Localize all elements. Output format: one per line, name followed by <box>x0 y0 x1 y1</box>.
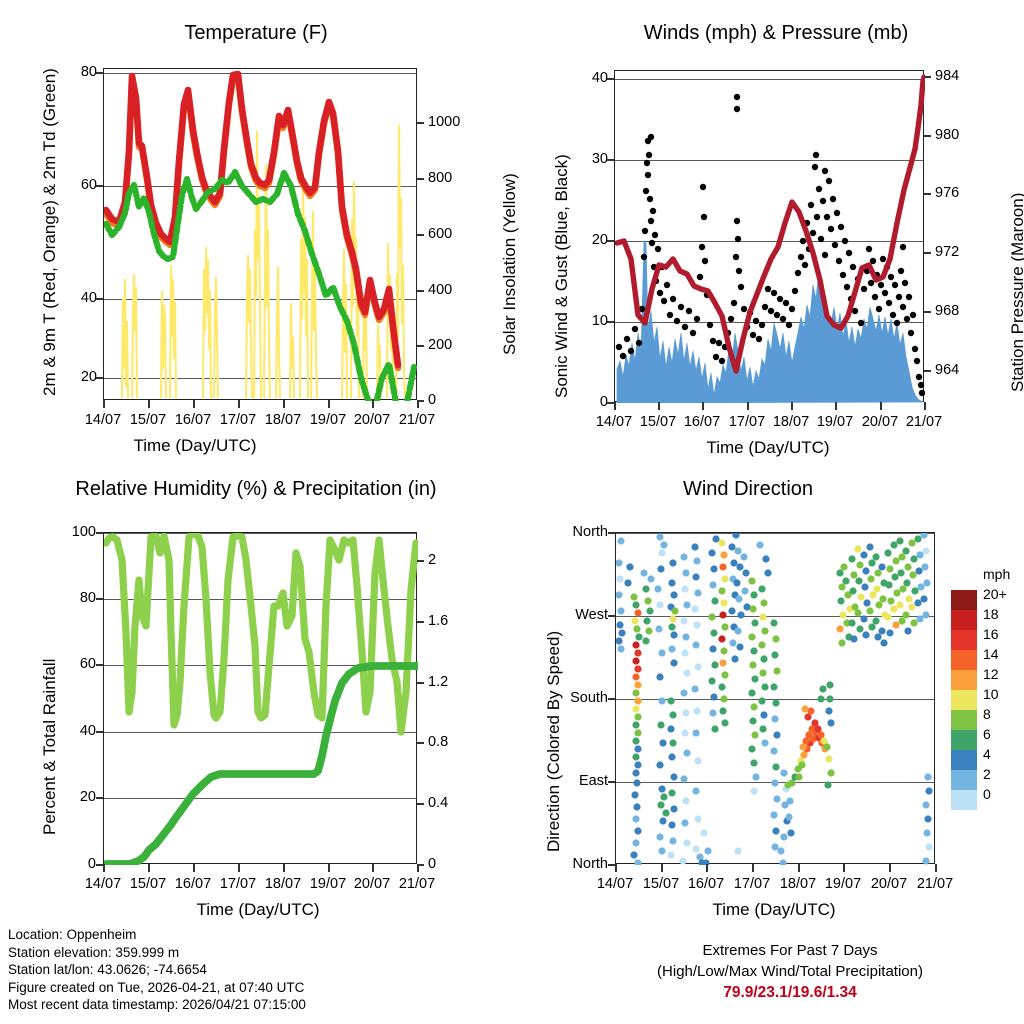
colorbar-swatch-16 <box>951 630 977 650</box>
metadata-location: Location: Oppenheim <box>8 926 306 944</box>
humidity-xtick-2: 16/07 <box>175 876 211 892</box>
winds-xtick-mark-1 <box>658 402 660 410</box>
precip-ytick-mark-12 <box>417 682 424 684</box>
colorbar-label-16: 16 <box>983 626 999 642</box>
colorbar-swatch-10 <box>951 690 977 710</box>
winds-ytick-mark-0 <box>607 402 614 404</box>
solar-ytick-mark-200 <box>417 345 424 347</box>
colorbar-swatch-2 <box>951 770 977 790</box>
direction-xtick-mark-5 <box>843 864 845 872</box>
pressure-yaxis-label: Station Pressure (Maroon) <box>1008 193 1024 392</box>
winds-ytick-30: 30 <box>574 151 608 167</box>
temperature-xtick-mark-2 <box>193 400 195 408</box>
temperature-series-svg <box>104 69 418 401</box>
temperature-xtick-mark-3 <box>238 400 240 408</box>
humidity-xtick-mark-0 <box>103 864 105 872</box>
colorbar-label-10: 10 <box>983 686 999 702</box>
direction-xtick-6: 20/07 <box>871 876 907 892</box>
winds-xtick-mark-6 <box>880 402 882 410</box>
winds-ytick-mark-40 <box>607 78 614 80</box>
solar-ytick-400: 400 <box>428 282 452 298</box>
solar-ytick-mark-1000 <box>417 122 424 124</box>
winds-ytick-0: 0 <box>574 394 608 410</box>
solar-ytick-600: 600 <box>428 226 452 242</box>
humidity-xtick-3: 17/07 <box>220 876 256 892</box>
winds-xtick-1: 15/07 <box>640 414 676 430</box>
solar-ytick-1000: 1000 <box>428 114 460 130</box>
direction-ytick-mark-south <box>608 698 615 700</box>
winds-xtick-mark-5 <box>835 402 837 410</box>
pressure-ytick-mark-976 <box>924 193 931 195</box>
humidity-ytick-20: 20 <box>58 789 96 805</box>
metadata-elevation: Station elevation: 359.999 m <box>8 944 306 962</box>
pressure-ytick-964: 964 <box>935 362 959 378</box>
winds-yaxis-label: Sonic Wind & Gust (Blue, Black) <box>552 154 572 398</box>
direction-ytick-mark-west <box>608 615 615 617</box>
winds-xtick-7: 21/07 <box>906 414 942 430</box>
pressure-ytick-mark-984 <box>924 76 931 78</box>
direction-xtick-mark-7 <box>935 864 937 872</box>
temperature-xtick-0: 14/07 <box>85 412 121 428</box>
panel-temperature-title: Temperature (F) <box>56 22 456 45</box>
humidity-xtick-5: 19/07 <box>310 876 346 892</box>
colorbar-swatch-18 <box>951 610 977 630</box>
winds-ytick-mark-10 <box>607 321 614 323</box>
temperature-ytick-40: 40 <box>61 290 97 306</box>
humidity-plot-frame <box>103 532 417 864</box>
winds-xaxis-label: Time (Day/UTC) <box>706 438 829 458</box>
temperature-ytick-mark-20 <box>96 377 103 379</box>
direction-xtick-mark-2 <box>706 864 708 872</box>
temperature-plot-frame <box>103 68 417 400</box>
humidity-ytick-100: 100 <box>58 524 96 540</box>
temperature-xtick-mark-1 <box>148 400 150 408</box>
temperature-xtick-mark-5 <box>328 400 330 408</box>
humidity-ytick-mark-80 <box>96 598 103 600</box>
temperature-xtick-5: 19/07 <box>310 412 346 428</box>
temperature-xtick-mark-6 <box>372 400 374 408</box>
humidity-xtick-mark-4 <box>283 864 285 872</box>
temperature-ytick-mark-40 <box>96 298 103 300</box>
colorbar-unit-label: mph <box>983 566 1010 582</box>
temperature-xaxis-label: Time (Day/UTC) <box>133 436 256 456</box>
direction-xtick-1: 15/07 <box>643 876 679 892</box>
humidity-xtick-0: 14/07 <box>85 876 121 892</box>
metadata-timestamp: Most recent data timestamp: 2026/04/21 0… <box>8 996 306 1014</box>
colorbar-label-0: 0 <box>983 786 991 802</box>
humidity-xtick-mark-5 <box>328 864 330 872</box>
colorbar-label-18: 18 <box>983 606 999 622</box>
temperature-xtick-2: 16/07 <box>175 412 211 428</box>
panel-wind-direction: Wind Direction <box>512 460 1024 920</box>
direction-ytick-west: West <box>540 607 608 623</box>
humidity-xtick-7: 21/07 <box>399 876 435 892</box>
colorbar-label-2: 2 <box>983 766 991 782</box>
temperature-xtick-7: 21/07 <box>399 412 435 428</box>
colorbar-label-6: 6 <box>983 726 991 742</box>
temperature-ytick-80: 80 <box>61 64 97 80</box>
station-metadata: Location: Oppenheim Station elevation: 3… <box>8 926 306 1014</box>
precip-ytick-08: 0.8 <box>428 734 448 750</box>
colorbar-swatch-20plus <box>951 590 977 610</box>
solar-ytick-200: 200 <box>428 337 452 353</box>
direction-ytick-north-bottom: North <box>540 856 608 872</box>
humidity-yaxis-label: Percent & Total Rainfall <box>40 659 60 835</box>
extremes-summary: Extremes For Past 7 Days (High/Low/Max W… <box>600 940 980 1003</box>
pressure-ytick-mark-968 <box>924 311 931 313</box>
humidity-ytick-mark-60 <box>96 664 103 666</box>
metadata-created: Figure created on Tue, 2026-04-21, at 07… <box>8 979 306 997</box>
precip-ytick-04: 0.4 <box>428 795 448 811</box>
colorbar-label-14: 14 <box>983 646 999 662</box>
humidity-ytick-mark-100 <box>96 532 103 534</box>
extremes-subheading: (High/Low/Max Wind/Total Precipitation) <box>600 961 980 982</box>
humidity-ytick-0: 0 <box>58 856 96 872</box>
direction-xtick-2: 16/07 <box>688 876 724 892</box>
winds-ytick-10: 10 <box>574 313 608 329</box>
direction-xtick-mark-0 <box>615 864 617 872</box>
winds-xtick-2: 16/07 <box>684 414 720 430</box>
humidity-ytick-mark-40 <box>96 731 103 733</box>
colorbar-swatch-4 <box>951 750 977 770</box>
wind-direction-scatter-svg <box>616 533 936 865</box>
winds-xtick-mark-2 <box>702 402 704 410</box>
precip-ytick-mark-16 <box>417 621 424 623</box>
colorbar-label-12: 12 <box>983 666 999 682</box>
colorbar-label-20plus: 20+ <box>983 586 1007 602</box>
winds-ytick-20: 20 <box>574 232 608 248</box>
colorbar-swatch-12 <box>951 670 977 690</box>
panel-temperature: Temperature (F) <box>0 0 512 460</box>
pressure-ytick-mark-964 <box>924 370 931 372</box>
direction-ytick-mark-north-top <box>608 532 615 534</box>
direction-xtick-mark-6 <box>889 864 891 872</box>
temperature-xtick-4: 18/07 <box>265 412 301 428</box>
precip-ytick-mark-20 <box>417 560 424 562</box>
solar-ytick-mark-800 <box>417 178 424 180</box>
metadata-latlon: Station lat/lon: 43.0626; -74.6654 <box>8 961 306 979</box>
winds-ytick-mark-30 <box>607 159 614 161</box>
winds-xtick-mark-7 <box>924 402 926 410</box>
panel-humidity-title: Relative Humidity (%) & Precipitation (i… <box>6 478 506 501</box>
temperature-xtick-3: 17/07 <box>220 412 256 428</box>
pressure-ytick-mark-980 <box>924 135 931 137</box>
wind-speed-colorbar: mph 20+ 18 16 14 12 10 8 6 4 2 0 <box>951 590 977 810</box>
humidity-series-svg <box>104 533 418 865</box>
temperature-xtick-mark-4 <box>283 400 285 408</box>
temperature-ytick-60: 60 <box>61 177 97 193</box>
solar-ytick-mark-600 <box>417 234 424 236</box>
temperature-xtick-1: 15/07 <box>130 412 166 428</box>
pressure-ytick-984: 984 <box>935 68 959 84</box>
winds-xtick-mark-0 <box>614 402 616 410</box>
humidity-xtick-4: 18/07 <box>265 876 301 892</box>
direction-xtick-mark-3 <box>752 864 754 872</box>
humidity-ytick-mark-0 <box>96 864 103 866</box>
wind-direction-plot-frame <box>615 532 935 864</box>
panel-winds-pressure: Winds (mph) & Pressure (mb) <box>512 0 1024 460</box>
direction-xtick-5: 19/07 <box>825 876 861 892</box>
colorbar-swatch-0 <box>951 790 977 810</box>
winds-xtick-mark-4 <box>791 402 793 410</box>
temperature-xtick-mark-0 <box>103 400 105 408</box>
winds-ytick-mark-20 <box>607 240 614 242</box>
humidity-xtick-mark-2 <box>193 864 195 872</box>
colorbar-label-8: 8 <box>983 706 991 722</box>
pressure-ytick-972: 972 <box>935 244 959 260</box>
pressure-ytick-968: 968 <box>935 303 959 319</box>
direction-xtick-4: 18/07 <box>780 876 816 892</box>
humidity-xtick-mark-6 <box>372 864 374 872</box>
solar-ytick-0: 0 <box>428 392 436 408</box>
humidity-ytick-mark-20 <box>96 797 103 799</box>
colorbar-swatch-14 <box>951 650 977 670</box>
precip-ytick-mark-04 <box>417 803 424 805</box>
direction-xtick-mark-4 <box>798 864 800 872</box>
precip-ytick-20: 2 <box>428 552 436 568</box>
temperature-ytick-mark-60 <box>96 185 103 187</box>
direction-ytick-mark-north-bottom <box>608 864 615 866</box>
humidity-xtick-1: 15/07 <box>130 876 166 892</box>
humidity-ytick-60: 60 <box>58 656 96 672</box>
colorbar-swatch-6 <box>951 730 977 750</box>
direction-ytick-north-top: North <box>540 524 608 540</box>
precip-ytick-12: 1.2 <box>428 674 448 690</box>
relative-humidity-trace <box>106 533 416 732</box>
pressure-ytick-976: 976 <box>935 185 959 201</box>
temperature-ytick-mark-80 <box>96 72 103 74</box>
direction-ytick-mark-east <box>608 781 615 783</box>
humidity-ytick-40: 40 <box>58 723 96 739</box>
wind-direction-points <box>616 533 933 865</box>
humidity-xtick-mark-1 <box>148 864 150 872</box>
humidity-ytick-80: 80 <box>58 590 96 606</box>
solar-insolation-trace <box>122 125 405 398</box>
panel-humidity-precip: Relative Humidity (%) & Precipitation (i… <box>0 460 512 920</box>
humidity-xtick-mark-3 <box>238 864 240 872</box>
winds-ytick-40: 40 <box>574 70 608 86</box>
winds-xtick-4: 18/07 <box>773 414 809 430</box>
temperature-xtick-6: 20/07 <box>354 412 390 428</box>
solar-ytick-800: 800 <box>428 170 452 186</box>
temperature-yaxis-label: 2m & 9m T (Red, Orange) & 2m Td (Green) <box>40 68 60 396</box>
winds-xtick-mark-3 <box>747 402 749 410</box>
winds-series-svg <box>615 71 925 403</box>
precip-ytick-16: 1.6 <box>428 613 448 629</box>
panel-wind-direction-title: Wind Direction <box>568 478 928 501</box>
direction-xaxis-label: Time (Day/UTC) <box>712 900 835 920</box>
precip-ytick-mark-08 <box>417 742 424 744</box>
humidity-xtick-6: 20/07 <box>354 876 390 892</box>
extremes-heading: Extremes For Past 7 Days <box>600 940 980 961</box>
humidity-xtick-mark-7 <box>417 864 419 872</box>
temperature-xtick-mark-7 <box>417 400 419 408</box>
pressure-ytick-mark-972 <box>924 252 931 254</box>
humidity-xaxis-label: Time (Day/UTC) <box>196 900 319 920</box>
precip-ytick-00: 0 <box>428 856 436 872</box>
winds-xtick-0: 14/07 <box>596 414 632 430</box>
winds-plot-frame <box>614 70 924 402</box>
direction-yaxis-label: Direction (Colored By Speed) <box>544 631 564 852</box>
winds-xtick-5: 19/07 <box>817 414 853 430</box>
direction-xtick-3: 17/07 <box>734 876 770 892</box>
winds-xtick-6: 20/07 <box>862 414 898 430</box>
winds-xtick-3: 17/07 <box>729 414 765 430</box>
colorbar-swatch-8 <box>951 710 977 730</box>
direction-xtick-mark-1 <box>661 864 663 872</box>
colorbar-label-4: 4 <box>983 746 991 762</box>
solar-ytick-mark-400 <box>417 290 424 292</box>
direction-xtick-7: 21/07 <box>917 876 953 892</box>
panel-winds-title: Winds (mph) & Pressure (mb) <box>576 22 976 45</box>
extremes-values: 79.9/23.1/19.6/1.34 <box>600 982 980 1003</box>
direction-xtick-0: 14/07 <box>597 876 633 892</box>
temperature-ytick-20: 20 <box>61 369 97 385</box>
pressure-ytick-980: 980 <box>935 127 959 143</box>
